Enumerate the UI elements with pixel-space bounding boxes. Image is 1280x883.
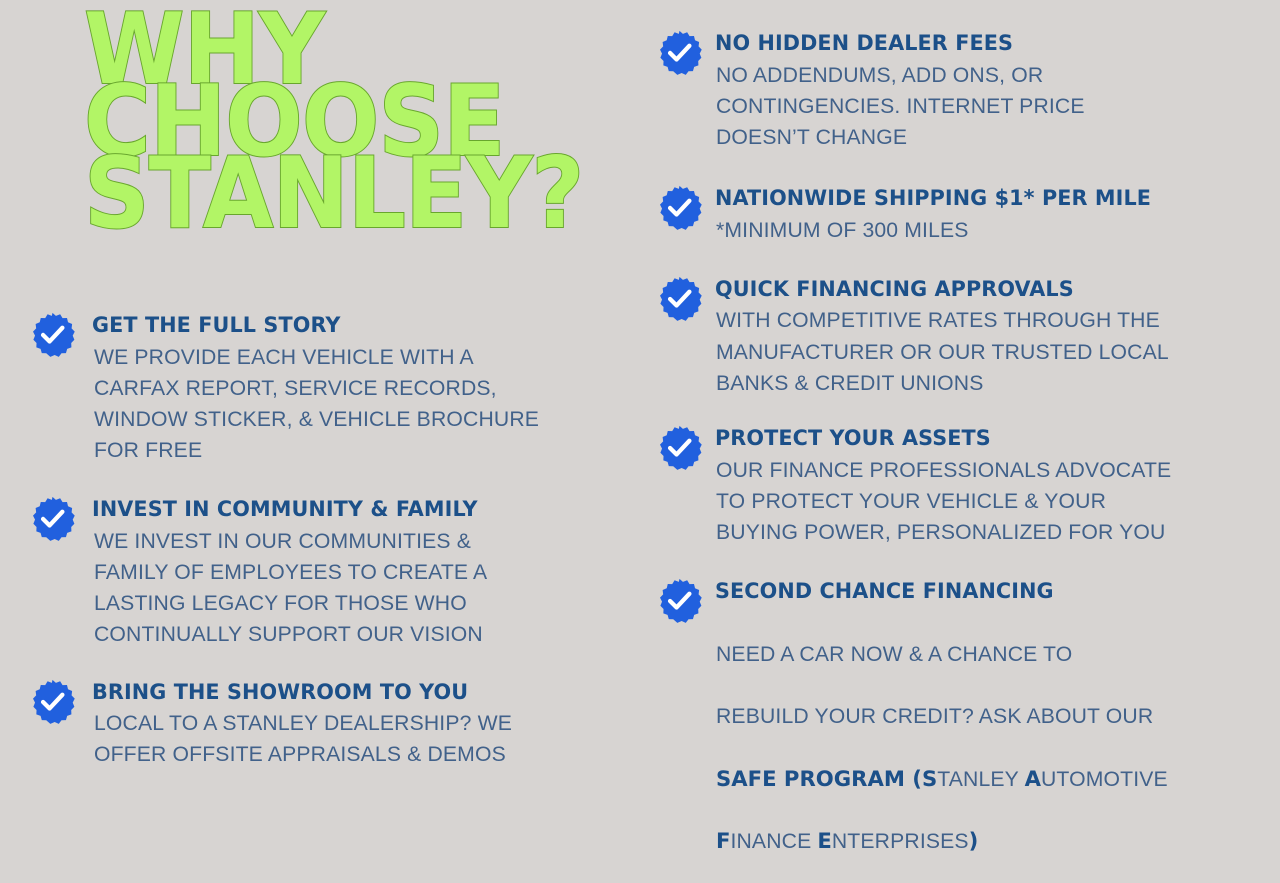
feature-body-rich: NEED A CAR NOW & A CHANCE TO REBUILD YOU…	[715, 608, 1259, 857]
feature-body: WE PROVIDE EACH VEHICLE WITH A CARFAX RE…	[92, 342, 622, 467]
feature-item-second-chance-financing: SECOND CHANCE FINANCING NEED A CAR NOW &…	[657, 578, 1267, 857]
feature-item-protect-your-assets: PROTECT YOUR ASSETS OUR FINANCE PROFESSI…	[657, 425, 1267, 548]
feature-body: LOCAL TO A STANLEY DEALERSHIP? WE OFFER …	[92, 708, 622, 770]
check-badge-icon	[657, 578, 702, 623]
check-badge-icon	[657, 425, 702, 470]
feature-item-quick-financing-approvals: QUICK FINANCING APPROVALS WITH COMPETITI…	[657, 276, 1267, 399]
feature-body-line: REBUILD YOUR CREDIT? ASK ABOUT OUR	[716, 704, 1153, 728]
feature-title: SECOND CHANCE FINANCING	[715, 578, 1248, 607]
check-badge-icon	[657, 185, 702, 230]
left-feature-column: GET THE FULL STORY WE PROVIDE EACH VEHIC…	[30, 312, 630, 797]
feature-body: OUR FINANCE PROFESSIONALS ADVOCATE TO PR…	[715, 455, 1259, 549]
feature-body-line-rich: FINANCE ENTERPRISES)	[716, 829, 978, 853]
check-badge-icon	[657, 276, 702, 321]
feature-title: NATIONWIDE SHIPPING $1* PER MILE	[715, 185, 1248, 214]
check-badge-icon	[657, 30, 702, 75]
feature-title: BRING THE SHOWROOM TO YOU	[92, 679, 611, 708]
feature-body: WE INVEST IN OUR COMMUNITIES & FAMILY OF…	[92, 526, 622, 651]
feature-body-line: NEED A CAR NOW & A CHANCE TO	[716, 642, 1072, 666]
feature-title: INVEST IN COMMUNITY & FAMILY	[92, 496, 611, 525]
feature-title: PROTECT YOUR ASSETS	[715, 425, 1248, 454]
feature-body: WITH COMPETITIVE RATES THROUGH THE MANUF…	[715, 305, 1259, 399]
feature-item-nationwide-shipping: NATIONWIDE SHIPPING $1* PER MILE *MINIMU…	[657, 185, 1267, 246]
page-headline: WHY CHOOSE STANLEY?	[84, 14, 568, 230]
feature-item-invest-in-community-and-family: INVEST IN COMMUNITY & FAMILY WE INVEST I…	[30, 496, 630, 650]
right-feature-column: NO HIDDEN DEALER FEES NO ADDENDUMS, ADD …	[657, 30, 1267, 883]
feature-body: NO ADDENDUMS, ADD ONS, OR CONTINGENCIES.…	[715, 60, 1259, 154]
feature-title: GET THE FULL STORY	[92, 312, 611, 341]
infographic-page: WHY CHOOSE STANLEY? GET THE FULL STORY W…	[0, 0, 1280, 800]
feature-body: *MINIMUM OF 300 MILES	[715, 215, 1259, 246]
feature-title: QUICK FINANCING APPROVALS	[715, 276, 1248, 305]
check-badge-icon	[30, 679, 75, 724]
feature-body-line-rich: SAFE PROGRAM (STANLEY AUTOMOTIVE	[716, 767, 1168, 791]
feature-title: NO HIDDEN DEALER FEES	[715, 30, 1248, 59]
feature-item-no-hidden-dealer-fees: NO HIDDEN DEALER FEES NO ADDENDUMS, ADD …	[657, 30, 1267, 153]
check-badge-icon	[30, 312, 75, 357]
check-badge-icon	[30, 496, 75, 541]
feature-item-get-the-full-story: GET THE FULL STORY WE PROVIDE EACH VEHIC…	[30, 312, 630, 466]
feature-item-bring-the-showroom-to-you: BRING THE SHOWROOM TO YOU LOCAL TO A STA…	[30, 679, 630, 771]
